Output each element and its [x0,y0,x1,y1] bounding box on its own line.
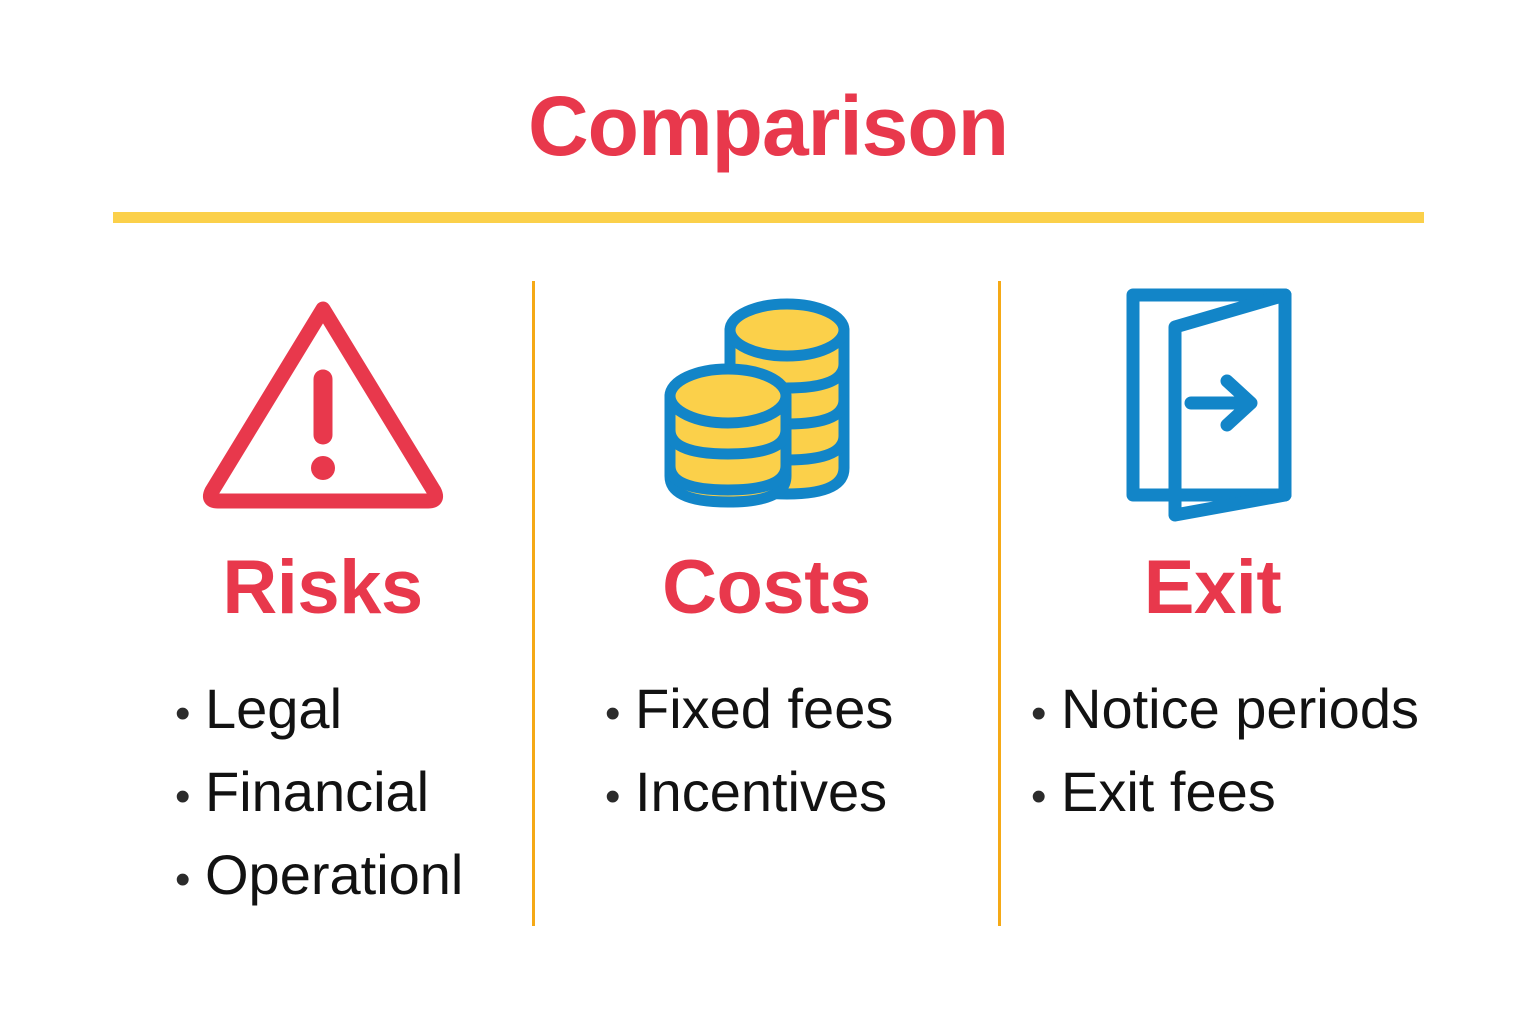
bullet-list-costs: • Fixed fees • Incentives [605,668,998,834]
list-item: • Notice periods [1031,668,1424,751]
list-item-label: Financial [205,751,429,834]
warning-triangle-icon [113,281,532,526]
bullet-dot-icon: • [175,681,205,746]
column-heading-costs: Costs [535,550,998,626]
list-item: • Financial [175,751,532,834]
column-exit: Exit • Notice periods • Exit fees [1001,281,1424,941]
list-item-label: Fixed fees [635,668,893,751]
bullet-dot-icon: • [1031,681,1061,746]
comparison-columns: Risks • Legal • Financial • Operationl [0,281,1536,941]
list-item-label: Notice periods [1061,668,1419,751]
column-heading-risks: Risks [113,550,532,626]
list-item: • Fixed fees [605,668,998,751]
column-costs: Costs • Fixed fees • Incentives [535,281,998,941]
list-item-label: Exit fees [1061,751,1276,834]
bullet-list-exit: • Notice periods • Exit fees [1031,668,1424,834]
list-item-label: Incentives [635,751,887,834]
bullet-dot-icon: • [175,847,205,912]
coin-stacks-icon [535,281,998,526]
bullet-list-risks: • Legal • Financial • Operationl [175,668,532,917]
comparison-infographic: Comparison Risks • Legal • [0,0,1536,1024]
list-item: • Exit fees [1031,751,1424,834]
title-underline-rule [113,212,1424,223]
list-item-label: Legal [205,668,342,751]
page-title: Comparison [0,82,1536,170]
list-item: • Operationl [175,834,532,917]
bullet-dot-icon: • [1031,764,1061,829]
list-item: • Incentives [605,751,998,834]
open-door-exit-icon [1001,281,1424,526]
list-item: • Legal [175,668,532,751]
list-item-label: Operationl [205,834,463,917]
bullet-dot-icon: • [605,681,635,746]
bullet-dot-icon: • [175,764,205,829]
column-risks: Risks • Legal • Financial • Operationl [113,281,532,941]
column-heading-exit: Exit [1001,550,1424,626]
bullet-dot-icon: • [605,764,635,829]
